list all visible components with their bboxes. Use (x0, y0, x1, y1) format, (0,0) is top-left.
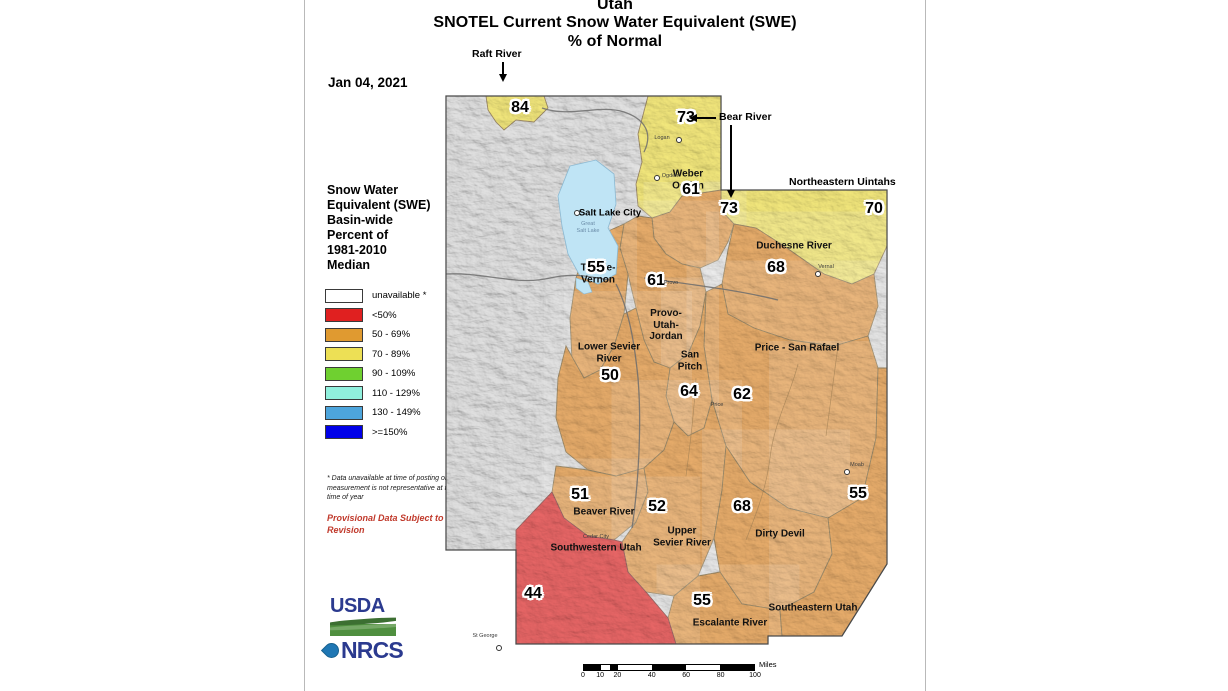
legend-label-lt50: <50% (372, 310, 397, 321)
usda-landscape-icon (330, 617, 396, 636)
callout-bear-river-arrow-line-v (730, 125, 732, 191)
utah-basin-map[interactable]: Great Salt Lake Weber Ogden Tooele- Vern… (438, 78, 903, 654)
scale-tick-80: 80 (717, 672, 725, 679)
city-label-price: Price (711, 402, 724, 408)
title-main: SNOTEL Current Snow Water Equivalent (SW… (305, 13, 925, 32)
scale-seg-6 (686, 665, 720, 670)
city-label-moab: Moab (850, 462, 864, 468)
scale-tick-20: 20 (613, 672, 621, 679)
water-drop-icon (323, 641, 339, 660)
city-label-salt-lake-city: Salt Lake City (579, 208, 641, 219)
city-label-vernal: Vernal (818, 264, 834, 270)
legend-swatch-unavailable (325, 289, 363, 303)
right-gutter (926, 0, 1228, 691)
city-dot-vernal (815, 271, 821, 277)
legend-label-70-89: 70 - 89% (372, 349, 410, 360)
city-label-logan: Logan (654, 135, 669, 141)
callout-bear-river-arrowhead-down (727, 190, 735, 198)
scale-seg-3 (610, 665, 619, 670)
legend-label-gte150: >=150% (372, 427, 407, 438)
map-date: Jan 04, 2021 (328, 75, 408, 90)
left-gutter (0, 0, 304, 691)
callout-bear-river: Bear River (719, 111, 772, 123)
scale-bar-unit: Miles (759, 660, 777, 669)
legend-label-50-69: 50 - 69% (372, 329, 410, 340)
map-body (438, 78, 903, 654)
city-dot-moab (844, 469, 850, 475)
legend-label-110-129: 110 - 129% (372, 388, 420, 399)
city-dot-ogden (654, 175, 660, 181)
scale-tick-10: 10 (596, 672, 604, 679)
scale-bar-track (583, 664, 755, 671)
nrcs-row: NRCS (323, 639, 443, 662)
city-label-st-george: St George (472, 633, 497, 639)
city-label-ogden: Ogden (662, 173, 679, 179)
scale-tick-60: 60 (682, 672, 690, 679)
callout-bear-river-arrowhead-left (689, 114, 697, 122)
legend-swatch-gte150 (325, 425, 363, 439)
city-label-cedar-city: Cedar City (583, 534, 609, 540)
scale-seg-1 (584, 665, 601, 670)
map-sheet: Utah SNOTEL Current Snow Water Equivalen… (305, 0, 925, 691)
scale-tick-40: 40 (648, 672, 656, 679)
title-state: Utah (305, 0, 925, 13)
sheet-right-border (925, 0, 926, 691)
legend-swatch-110-129 (325, 386, 363, 400)
city-dot-st-george (496, 645, 502, 651)
scale-seg-4 (618, 665, 652, 670)
callout-northeastern-uintahs: Northeastern Uintahs (789, 176, 896, 188)
scale-bar: 0 10 20 40 60 80 100 Miles (583, 664, 768, 684)
city-label-provo: Provo (664, 280, 678, 286)
scale-tick-100: 100 (749, 672, 761, 679)
great-salt-lake-label: Great Salt Lake (577, 221, 600, 235)
legend-swatch-90-109 (325, 367, 363, 381)
legend-swatch-130-149 (325, 406, 363, 420)
legend-label-130-149: 130 - 149% (372, 407, 421, 418)
map-page: Utah SNOTEL Current Snow Water Equivalen… (0, 0, 1228, 691)
callout-bear-river-arrow-line-h (696, 117, 716, 119)
legend-swatch-70-89 (325, 347, 363, 361)
page-title: Utah SNOTEL Current Snow Water Equivalen… (305, 0, 925, 51)
city-dot-salt-lake-city (574, 210, 580, 216)
legend-swatch-lt50 (325, 308, 363, 322)
callout-raft-river-arrowhead (499, 74, 507, 82)
scale-seg-7 (720, 665, 754, 670)
usda-wordmark: USDA (330, 596, 443, 616)
map-svg (438, 78, 903, 654)
legend-swatch-50-69 (325, 328, 363, 342)
nrcs-wordmark: NRCS (341, 639, 403, 662)
usda-nrcs-logo: USDA NRCS (323, 596, 443, 676)
title-sub: % of Normal (305, 32, 925, 51)
legend-label-90-109: 90 - 109% (372, 368, 415, 379)
scale-seg-2 (601, 665, 610, 670)
callout-raft-river: Raft River (472, 48, 522, 60)
legend-label-unavailable: unavailable * (372, 290, 426, 301)
scale-bar-ticks: 0 10 20 40 60 80 100 (583, 672, 755, 684)
scale-tick-0: 0 (581, 672, 585, 679)
city-dot-logan (676, 137, 682, 143)
scale-seg-5 (652, 665, 686, 670)
